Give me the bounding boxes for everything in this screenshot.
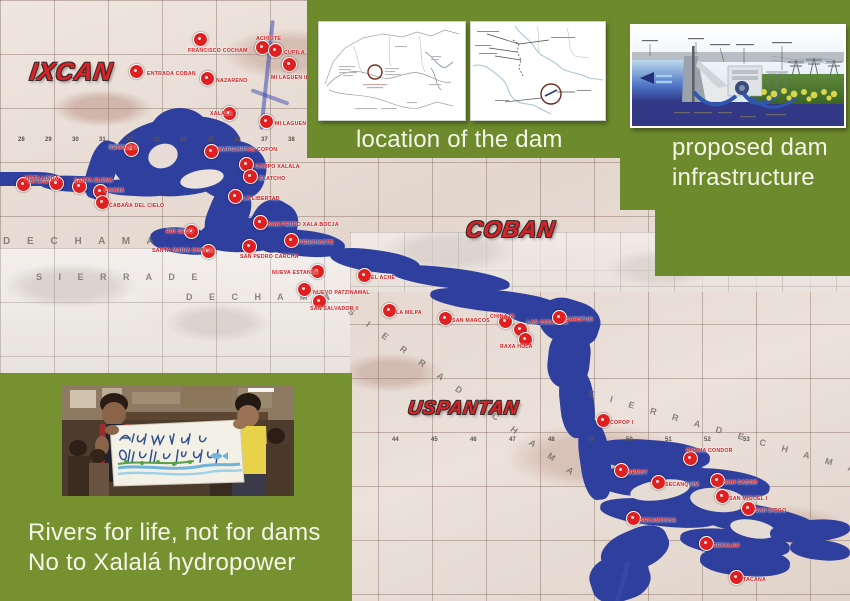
village-marker[interactable] — [552, 310, 567, 325]
village-label: RIO SECO — [166, 229, 193, 235]
village-marker[interactable] — [243, 169, 258, 184]
village-label: ELATCHO — [259, 176, 285, 182]
village-label: CHAMA CONDOR — [686, 448, 733, 454]
village-marker[interactable] — [596, 413, 611, 428]
inset-dam-cross-section[interactable] — [630, 24, 846, 128]
village-marker[interactable] — [297, 282, 312, 297]
village-label: PENCHACTE — [299, 240, 334, 246]
village-marker[interactable] — [204, 144, 219, 159]
village-label: SARSTUN — [566, 317, 593, 323]
village-marker[interactable] — [253, 215, 268, 230]
village-marker[interactable] — [268, 43, 283, 58]
village-label: SANTA MARIA CHAYUL — [152, 248, 215, 254]
village-marker[interactable] — [357, 268, 372, 283]
village-label: XALALA — [210, 111, 233, 117]
village-marker[interactable] — [438, 311, 453, 326]
village-marker[interactable] — [382, 303, 397, 318]
village-label: NUEVA ESTANZA — [272, 270, 318, 276]
village-marker[interactable] — [715, 489, 730, 504]
village-marker[interactable] — [626, 511, 641, 526]
village-label: ENTRADA COBAN — [147, 71, 196, 77]
community-protest-photo[interactable] — [62, 386, 294, 496]
village-marker[interactable] — [193, 32, 208, 47]
village-marker[interactable] — [699, 536, 714, 551]
village-label: MI LAGUEN II — [275, 121, 311, 127]
village-label: TACANA — [743, 577, 766, 583]
village-label: SAN DIEGO — [755, 508, 786, 514]
caption-proposed-infrastructure: proposed dam infrastructure — [672, 133, 850, 193]
village-label: SEMUY — [628, 470, 648, 476]
village-marker[interactable] — [710, 473, 725, 488]
village-label: SAN PEDRO XALA BOCJA — [268, 222, 339, 228]
village-marker[interactable] — [614, 463, 629, 478]
village-label: CAMPO XALALA — [255, 164, 300, 170]
village-label: CHAMA — [104, 188, 125, 194]
village-label: VISTA LINDA — [24, 176, 59, 182]
village-label: EL ACHE — [371, 275, 395, 281]
village-label: SANTA ELENA — [74, 178, 113, 184]
village-marker[interactable] — [282, 57, 297, 72]
village-marker[interactable] — [129, 64, 144, 79]
green-edge-strip-bottom — [0, 591, 352, 601]
village-label: LA LIBERTAD — [243, 196, 280, 202]
village-label: CABAÑA DEL CIELO — [109, 203, 164, 209]
village-label: NAZARENO — [216, 78, 247, 84]
village-marker[interactable] — [95, 195, 110, 210]
village-label: CHINAJA — [490, 314, 515, 320]
village-marker[interactable] — [741, 501, 756, 516]
village-label: RAXA HULA — [500, 344, 533, 350]
village-label: SECANQUIM — [665, 482, 699, 488]
village-marker[interactable] — [259, 114, 274, 129]
village-label: ACHIOTE — [256, 36, 281, 42]
village-label: SAN MARCOS — [452, 318, 490, 324]
village-label: MI LAGUEN II — [271, 75, 307, 81]
village-marker[interactable] — [200, 71, 215, 86]
village-label: SEXALAU — [713, 543, 740, 549]
village-label: FRANCISCO COCHAM — [188, 48, 248, 54]
river-detail-svg — [471, 22, 605, 120]
village-label: SAN SABOB — [724, 480, 757, 486]
village-marker[interactable] — [284, 233, 299, 248]
village-label: REMOLE II — [109, 145, 138, 151]
village-marker[interactable] — [242, 239, 257, 254]
village-label: SAN SALVADOR II — [310, 306, 359, 312]
poster-root: IXCAN COBAN USPANTAN D E C H A M A S I E… — [0, 0, 850, 601]
village-label: MARGARITAS COPON — [218, 147, 277, 153]
inset-river-detail-map[interactable] — [470, 21, 606, 121]
village-label: COPOP I — [610, 420, 633, 426]
country-outline-svg — [319, 22, 465, 120]
village-label: SECAMOCHA — [640, 518, 676, 524]
village-label: SAN PEDRO CARCHA — [240, 254, 299, 260]
village-label: CUPILA — [284, 50, 305, 56]
protest-photo-svg — [62, 386, 294, 496]
village-marker[interactable] — [651, 475, 666, 490]
village-marker[interactable] — [729, 570, 744, 585]
caption-location-of-dam: location of the dam — [356, 125, 563, 155]
caption-slogan: Rivers for life, not for dams No to Xala… — [28, 518, 348, 578]
village-label: LA MILPA — [396, 310, 422, 316]
dam-cross-section-svg — [632, 26, 844, 126]
inset-country-outline-map[interactable] — [318, 21, 466, 121]
village-marker[interactable] — [228, 189, 243, 204]
